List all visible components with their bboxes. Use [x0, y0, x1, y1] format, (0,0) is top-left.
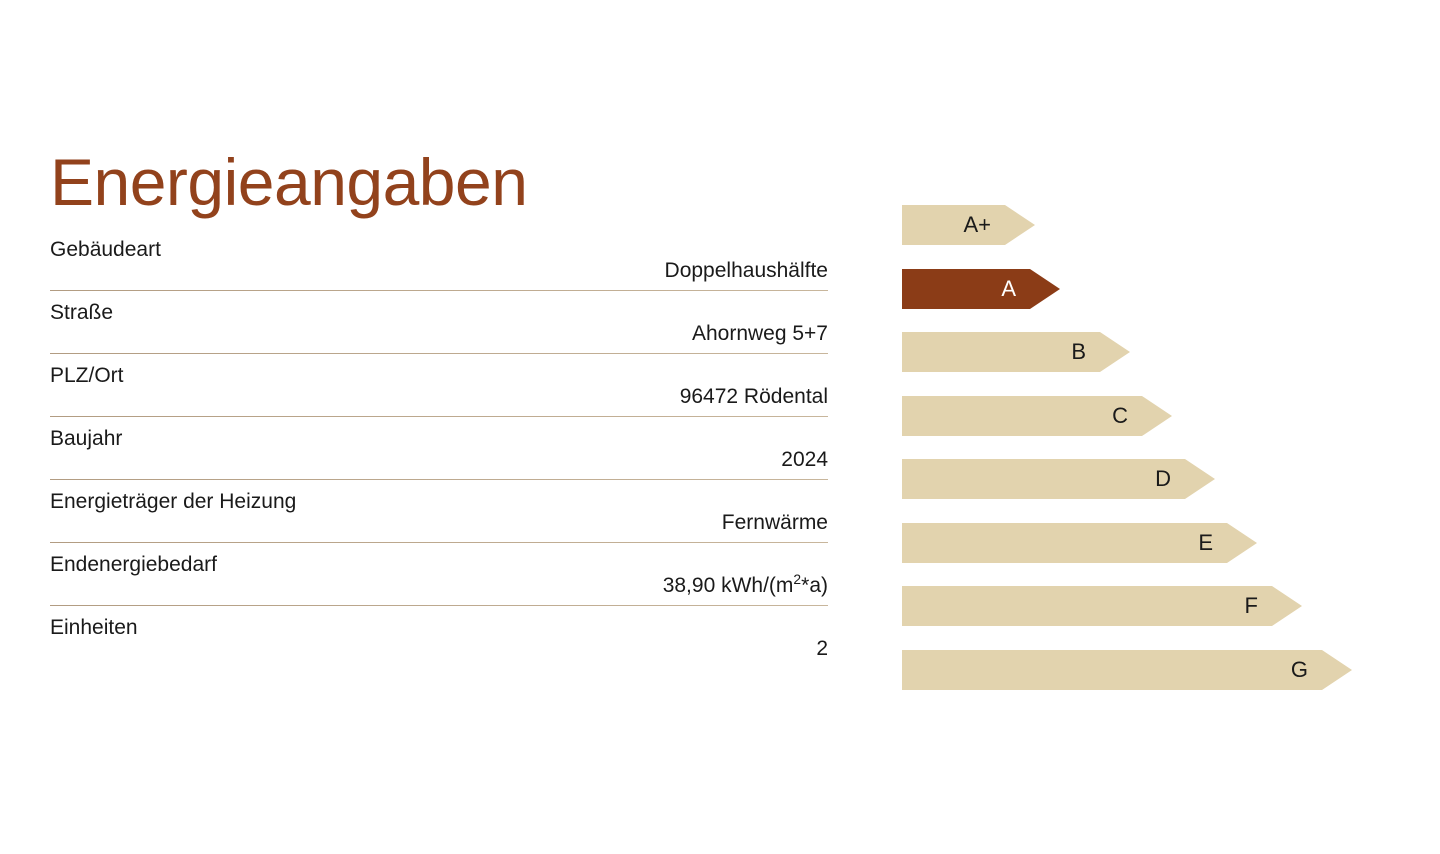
table-row: Gebäudeart Doppelhaushälfte: [50, 228, 828, 291]
row-label-strasse: Straße: [50, 301, 113, 325]
table-row: Baujahr 2024: [50, 417, 828, 480]
row-label-plz-ort: PLZ/Ort: [50, 364, 124, 388]
table-row: Einheiten 2: [50, 606, 828, 669]
row-label-energietraeger: Energieträger der Heizung: [50, 490, 296, 514]
row-label-gebaeudeart: Gebäudeart: [50, 238, 161, 262]
energy-efficiency-scale: A+ A B C D E F G: [902, 205, 1372, 705]
energy-class-label: G: [1291, 659, 1352, 681]
row-label-einheiten: Einheiten: [50, 616, 138, 640]
row-value-baujahr: 2024: [781, 448, 828, 472]
energy-class-bar-g: G: [902, 650, 1352, 690]
energy-class-label: D: [1155, 468, 1215, 490]
row-value-plz-ort: 96472 Rödental: [680, 385, 828, 409]
row-value-energietraeger: Fernwärme: [722, 511, 828, 535]
row-value-strasse: Ahornweg 5+7: [692, 322, 828, 346]
energy-class-label: A: [1001, 278, 1060, 300]
energy-class-bar-b: B: [902, 332, 1130, 372]
energy-certificate-page: Energieangaben Gebäudeart Doppelhaushälf…: [0, 0, 1440, 854]
table-row: Endenergiebedarf 38,90 kWh/(m2*a): [50, 543, 828, 606]
table-row: Straße Ahornweg 5+7: [50, 291, 828, 354]
row-label-baujahr: Baujahr: [50, 427, 122, 451]
energy-class-label: B: [1071, 341, 1130, 363]
table-row: PLZ/Ort 96472 Rödental: [50, 354, 828, 417]
page-title: Energieangaben: [50, 149, 527, 215]
energy-class-bar-e: E: [902, 523, 1257, 563]
energy-class-bar-a: A: [902, 269, 1060, 309]
energy-class-label: C: [1112, 405, 1172, 427]
row-label-endenergiebedarf: Endenergiebedarf: [50, 553, 217, 577]
energy-class-bar-f: F: [902, 586, 1302, 626]
energy-class-bar-c: C: [902, 396, 1172, 436]
table-row: Energieträger der Heizung Fernwärme: [50, 480, 828, 543]
energy-class-bar-a-plus: A+: [902, 205, 1035, 245]
row-value-endenergiebedarf: 38,90 kWh/(m2*a): [663, 574, 828, 598]
bar-arrow-shape: [902, 650, 1352, 690]
energy-class-label: E: [1198, 532, 1257, 554]
energy-details-table: Gebäudeart Doppelhaushälfte Straße Ahorn…: [50, 228, 828, 669]
bar-arrow-shape: [902, 586, 1302, 626]
energy-class-bar-d: D: [902, 459, 1215, 499]
energy-class-label: F: [1245, 595, 1302, 617]
row-value-einheiten: 2: [816, 637, 828, 661]
energy-class-label: A+: [963, 214, 1035, 236]
row-value-gebaeudeart: Doppelhaushälfte: [665, 259, 828, 283]
